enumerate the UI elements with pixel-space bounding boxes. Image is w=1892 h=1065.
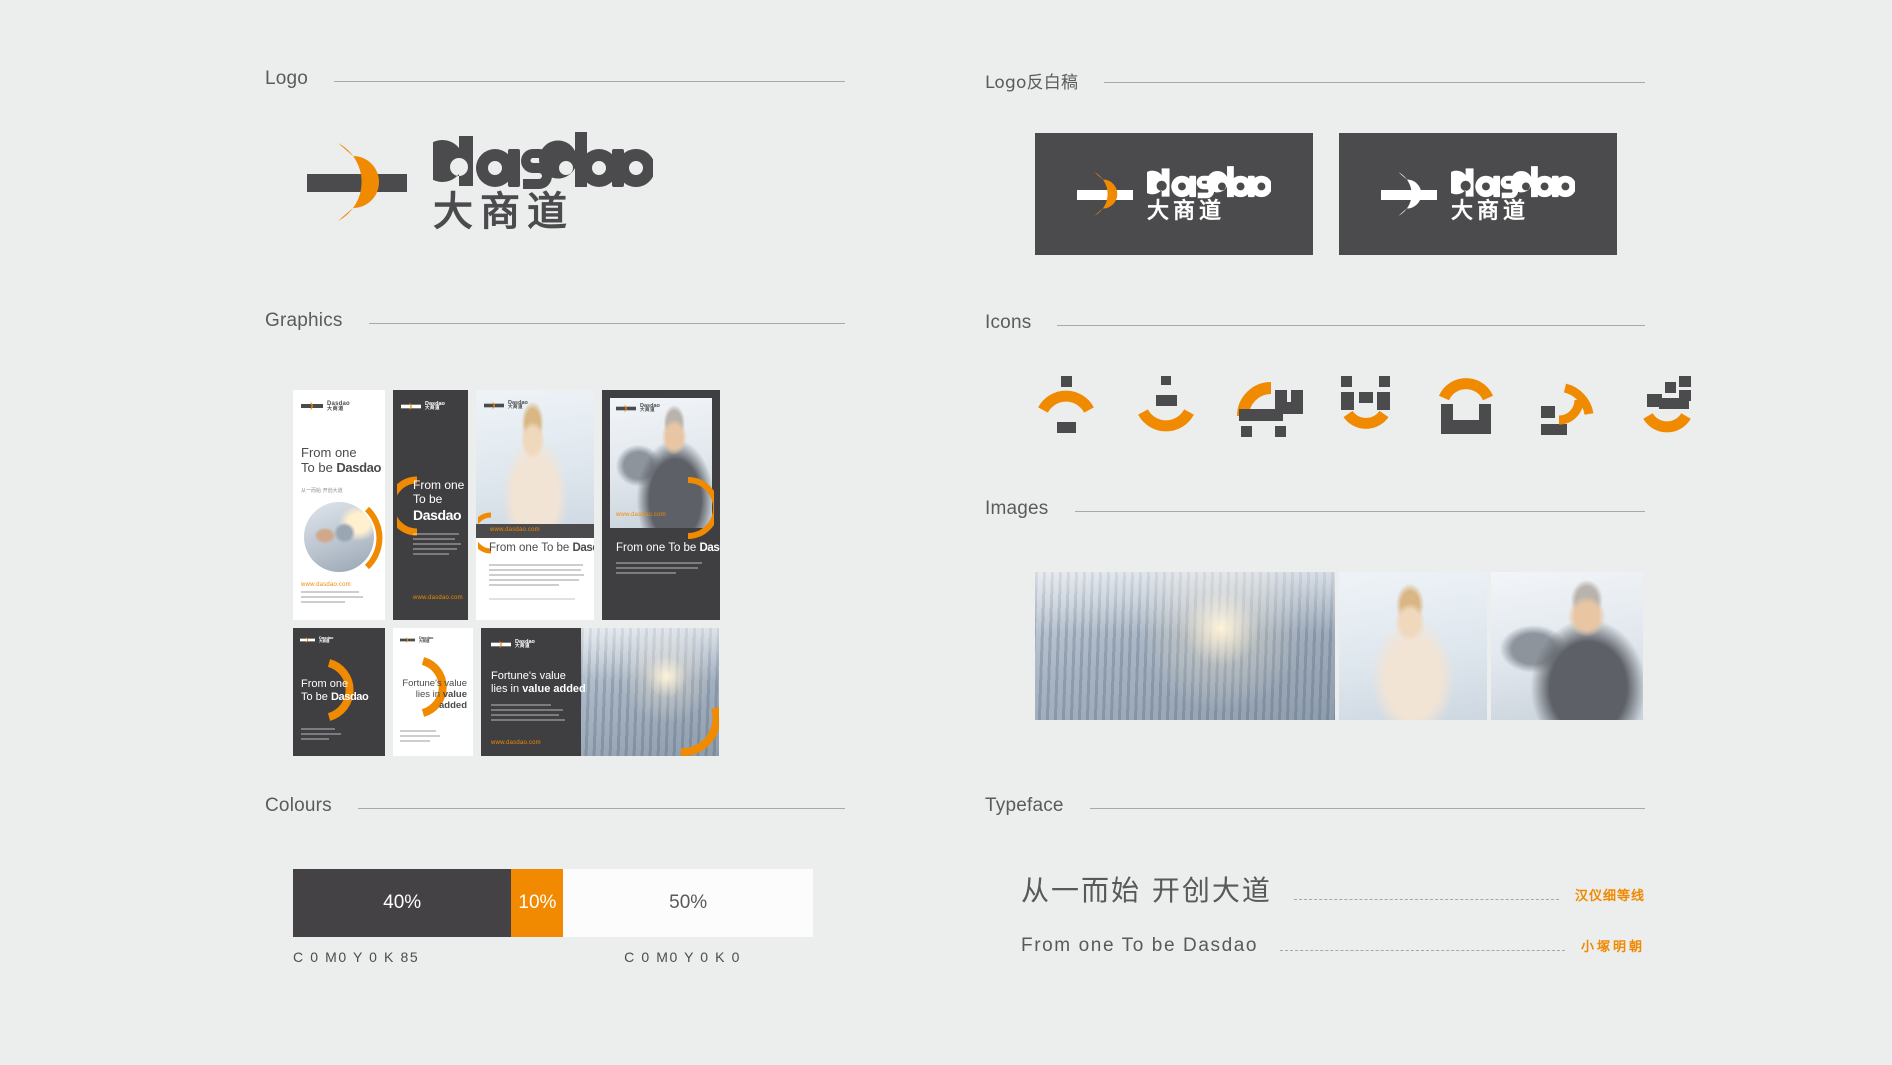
section-rule (1090, 808, 1645, 809)
section-header-icons: Icons (985, 312, 1645, 334)
logo-wordmark: 大商道 (1451, 166, 1575, 223)
brand-guidelines-page: Logo (0, 0, 1892, 1065)
graphic-headline-line2: lies in (416, 689, 443, 700)
graphic-body-text (301, 728, 341, 743)
graphic-headline-prefix: From one To be (489, 542, 573, 554)
section-header-logo: Logo (265, 68, 845, 90)
reverse-logo-panel-white[interactable]: 大商道 (1339, 133, 1617, 255)
swatch-white[interactable]: 50% (563, 869, 813, 937)
typeface-row-latin: From one To be Dasdao 小塚明朝 (1021, 935, 1645, 957)
graphic-headline-brand: Dasdao (336, 460, 381, 475)
graphic-url: www.dasdao.com (301, 582, 351, 588)
section-title-typeface: Typeface (985, 795, 1064, 817)
typeface-dash-rule (1294, 899, 1559, 900)
graphic-headline-brand: Dasdao (700, 542, 720, 554)
graphic-headline-line1: Fortune's value (399, 678, 467, 689)
primary-logo-lockup: 大商道 (307, 132, 845, 232)
graphic-headline-line1: From one (301, 678, 368, 691)
graphic-headline-line1: Fortune's value (491, 670, 586, 683)
logo-wordmark-cjk: 大商道 (1451, 201, 1575, 223)
graphic-brochure-white-cover[interactable]: Dasdao 大商道 From one To be Dasdao 从一而始 开创… (293, 390, 385, 620)
logo-mark-icon (1077, 166, 1133, 222)
graphic-headline-strong: value added (439, 689, 467, 711)
graphic-body-text (489, 564, 584, 603)
logo-wordmark-cjk: 大商道 (1147, 201, 1271, 223)
logo-mark-icon (307, 132, 407, 232)
graphic-flyer-woman-photo[interactable]: Dasdao 大商道 www.dasdao.com From one To be… (476, 390, 594, 620)
typeface-dash-rule (1280, 950, 1565, 951)
mini-logo-cjk: 大商道 (319, 640, 333, 644)
image-woman-phone-creditcard[interactable] (1339, 572, 1487, 720)
graphic-body-text (491, 704, 567, 724)
logo-wordmark-latin (1147, 166, 1271, 199)
graphic-body-text (301, 591, 361, 606)
colour-code-dark: C 0 M0 Y 0 K 85 (293, 949, 419, 965)
graphic-body-text (413, 533, 461, 558)
inbox-tray-icon[interactable] (1435, 376, 1497, 438)
section-rule (1075, 511, 1645, 512)
graphic-url: www.dasdao.com (413, 595, 463, 601)
logo-wordmark: 大商道 (433, 132, 653, 232)
colour-codes: C 0 M0 Y 0 K 85 C 0 M0 Y 0 K 0 (293, 949, 813, 965)
section-icons: Icons (985, 312, 1645, 438)
image-businessman-office[interactable] (1491, 572, 1643, 720)
section-colours: Colours 40% 10% 50% C 0 M0 Y 0 K 85 C 0 … (265, 795, 845, 965)
graphic-spread-dark-fortune-city[interactable]: Dasdao 大商道 Fortune's value lies in value… (481, 628, 719, 756)
graphic-card-dark-from-one[interactable]: Dasdao 大商道 From one To be Dasdao (293, 628, 385, 756)
section-rule (358, 808, 845, 809)
section-typeface: Typeface 从一而始 开创大道 汉仪细等线 From one To be … (985, 795, 1645, 983)
section-rule (1057, 325, 1645, 326)
section-title-colours: Colours (265, 795, 332, 817)
section-logo-reverse: Logo反白稿 (985, 68, 1645, 255)
mini-logo-icon: Dasdao 大商道 (401, 400, 445, 413)
mini-logo-cjk: 大商道 (327, 407, 350, 412)
graphic-url: www.dasdao.com (490, 527, 540, 533)
swatch-orange[interactable]: 10% (511, 869, 563, 937)
graphic-headline-line2: To be (301, 460, 336, 475)
typeface-name-latin: 小塚明朝 (1581, 936, 1645, 955)
colour-swatch-bar: 40% 10% 50% (293, 869, 813, 937)
section-logo: Logo (265, 68, 845, 232)
broadcast-signal-icon[interactable] (1535, 376, 1597, 438)
smile-face-icon[interactable] (1135, 376, 1197, 438)
section-title-logo-reverse: Logo反白稿 (985, 68, 1078, 93)
section-header-typeface: Typeface (985, 795, 1645, 817)
swatch-dark[interactable]: 40% (293, 869, 511, 937)
graphic-headline-strong: value added (522, 683, 586, 695)
shopping-cart-icon[interactable] (1235, 376, 1297, 438)
graphic-headline-line1: From one (301, 445, 381, 460)
graphic-headline-line2: lies in (491, 683, 522, 695)
mini-logo-cjk: 大商道 (508, 406, 528, 411)
typeface-sample-latin: From one To be Dasdao (1021, 935, 1258, 957)
section-graphics: Graphics Dasdao 大商道 From one To be Dasda… (265, 310, 845, 756)
graphic-headline-brand: Dasdao (413, 507, 464, 524)
images-strip (1035, 572, 1643, 720)
graphic-headline-line2: To be (413, 492, 464, 506)
graphic-arc-decoration (675, 706, 719, 756)
mini-logo-cjk: 大商道 (425, 407, 445, 412)
graphic-headline-line1: From one (413, 478, 464, 492)
typeface-row-cjk: 从一而始 开创大道 汉仪细等线 (1021, 869, 1645, 909)
section-title-logo: Logo (265, 68, 308, 90)
mini-logo-icon: Dasdao 大商道 (491, 638, 535, 651)
mini-logo-cjk: 大商道 (419, 640, 433, 644)
wifi-signal-icon[interactable] (1035, 376, 1097, 438)
graphic-url: www.dasdao.com (616, 512, 666, 518)
graphic-body-text (400, 730, 440, 745)
logo-wordmark: 大商道 (1147, 166, 1271, 223)
section-title-images: Images (985, 498, 1049, 520)
image-city-street-sunset[interactable] (1035, 572, 1335, 720)
graphic-subline: 从一而始 开创大道 (301, 487, 343, 494)
logo-mark-icon (1381, 166, 1437, 222)
typeface-sample-cjk: 从一而始 开创大道 (1021, 869, 1272, 909)
graphic-card-white-fortune[interactable]: Dasdao 大商道 Fortune's value lies in value… (393, 628, 473, 756)
logo-wordmark-latin (433, 132, 653, 190)
section-title-icons: Icons (985, 312, 1031, 334)
section-images: Images (985, 498, 1645, 720)
reverse-logo-panel-orange[interactable]: 大商道 (1035, 133, 1313, 255)
graphic-arc-decoration (678, 476, 714, 540)
chat-bubble-icon[interactable] (1635, 376, 1697, 438)
section-header-colours: Colours (265, 795, 845, 817)
graphic-url: www.dasdao.com (491, 740, 541, 746)
graphic-body-text (616, 562, 704, 577)
section-rule (334, 81, 845, 82)
graphic-headline-prefix: From one To be (616, 542, 700, 554)
logo-wordmark-latin (1451, 166, 1575, 199)
graphics-row-2: Dasdao 大商道 From one To be Dasdao (293, 628, 845, 756)
mini-logo-icon: Dasdao 大商道 (616, 402, 660, 415)
typeface-name-cjk: 汉仪细等线 (1575, 885, 1645, 904)
robot-face-icon[interactable] (1335, 376, 1397, 438)
section-header-images: Images (985, 498, 1645, 520)
mini-logo-cjk: 大商道 (515, 645, 535, 650)
mini-logo-cjk: 大商道 (640, 409, 660, 414)
section-rule (369, 323, 845, 324)
mini-logo-icon: Dasdao 大商道 (300, 635, 333, 645)
colour-code-white: C 0 M0 Y 0 K 0 (624, 949, 741, 965)
mini-logo-icon: Dasdao 大商道 (301, 399, 350, 413)
graphics-row-1: Dasdao 大商道 From one To be Dasdao 从一而始 开创… (293, 390, 845, 620)
mini-logo-icon: Dasdao 大商道 (484, 399, 528, 412)
graphic-poster-businessman-dark[interactable]: Dasdao 大商道 www.dasdao.com From one To be… (602, 390, 720, 620)
section-rule (1104, 82, 1645, 83)
icons-row (1035, 376, 1645, 438)
graphic-headline-line2: To be (301, 691, 331, 703)
graphic-rollup-banner-dark[interactable]: Dasdao 大商道 From one To be Dasdao www.das… (393, 390, 468, 620)
section-header-graphics: Graphics (265, 310, 845, 332)
graphic-headline-brand: Dasdao (573, 542, 594, 554)
mini-logo-icon: Dasdao 大商道 (400, 635, 433, 645)
section-header-logo-reverse: Logo反白稿 (985, 68, 1645, 93)
section-title-graphics: Graphics (265, 310, 343, 332)
logo-wordmark-cjk: 大商道 (433, 192, 653, 232)
graphic-arc-decoration (297, 495, 383, 581)
graphic-headline-brand: Dasdao (331, 691, 368, 703)
